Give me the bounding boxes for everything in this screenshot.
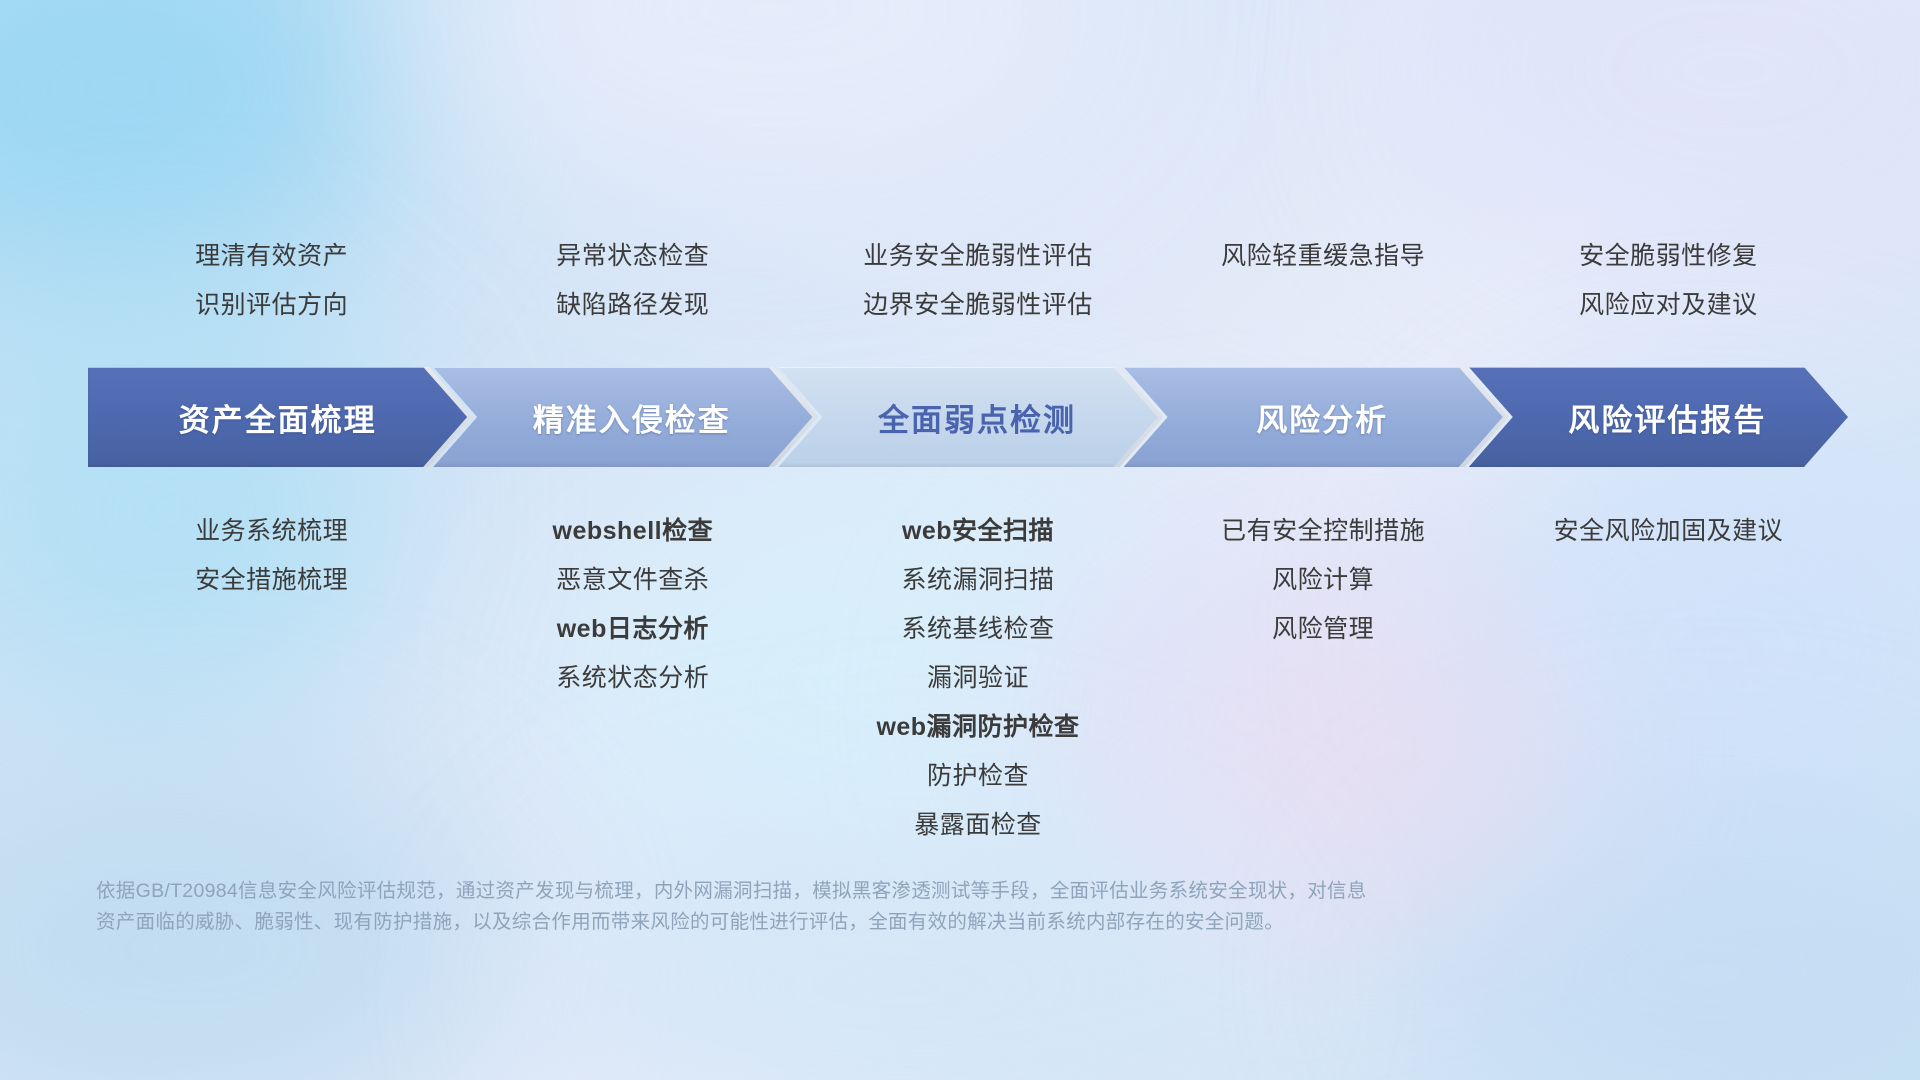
- chevron-stage-risk-report[interactable]: 风险评估报告: [1469, 367, 1848, 467]
- top-caption-risk-report: 安全脆弱性修复风险应对及建议: [1418, 232, 1918, 330]
- chevron-stage-intrusion-check[interactable]: 精准入侵检查: [433, 367, 812, 467]
- footer-description: 依据GB/T20984信息安全风险评估规范，通过资产发现与梳理，内外网漏洞扫描，…: [96, 876, 1596, 938]
- bottom-list-item: 安全风险加固及建议: [1418, 507, 1918, 556]
- chevron-stage-asset-review[interactable]: 资产全面梳理: [88, 367, 467, 467]
- bottom-list-item: 防护检查: [728, 752, 1228, 801]
- chevron-label: 风险评估报告: [1568, 395, 1766, 440]
- bottom-list-item: 暴露面检查: [728, 801, 1228, 850]
- top-caption-line: 安全脆弱性修复: [1418, 232, 1918, 281]
- footer-line-2: 资产面临的威胁、脆弱性、现有防护措施，以及综合作用而带来风险的可能性进行评估，全…: [96, 907, 1596, 938]
- top-caption-line: 风险应对及建议: [1418, 281, 1918, 330]
- chevron-label: 风险分析: [1256, 395, 1388, 440]
- bottom-list-item: 风险管理: [1073, 605, 1573, 654]
- chevron-label: 全面弱点检测: [878, 395, 1076, 440]
- chevron-band: 资产全面梳理精准入侵检查全面弱点检测风险分析风险评估报告: [88, 367, 1858, 467]
- process-diagram: 理清有效资产识别评估方向异常状态检查缺陷路径发现业务安全脆弱性评估边界安全脆弱性…: [0, 0, 1920, 1080]
- bottom-list-risk-report: 安全风险加固及建议: [1418, 507, 1918, 556]
- bottom-list-item: 风险计算: [1073, 556, 1573, 605]
- footer-line-1: 依据GB/T20984信息安全风险评估规范，通过资产发现与梳理，内外网漏洞扫描，…: [96, 876, 1596, 907]
- chevron-stage-risk-analysis[interactable]: 风险分析: [1124, 367, 1503, 467]
- top-caption-line: 边界安全脆弱性评估: [728, 281, 1228, 330]
- chevron-label: 精准入侵检查: [533, 395, 731, 440]
- bottom-list-item: web漏洞防护检查: [728, 703, 1228, 752]
- chevron-label: 资产全面梳理: [179, 395, 377, 440]
- chevron-stage-weakness-detection[interactable]: 全面弱点检测: [778, 367, 1157, 467]
- bottom-list-item: 漏洞验证: [728, 654, 1228, 703]
